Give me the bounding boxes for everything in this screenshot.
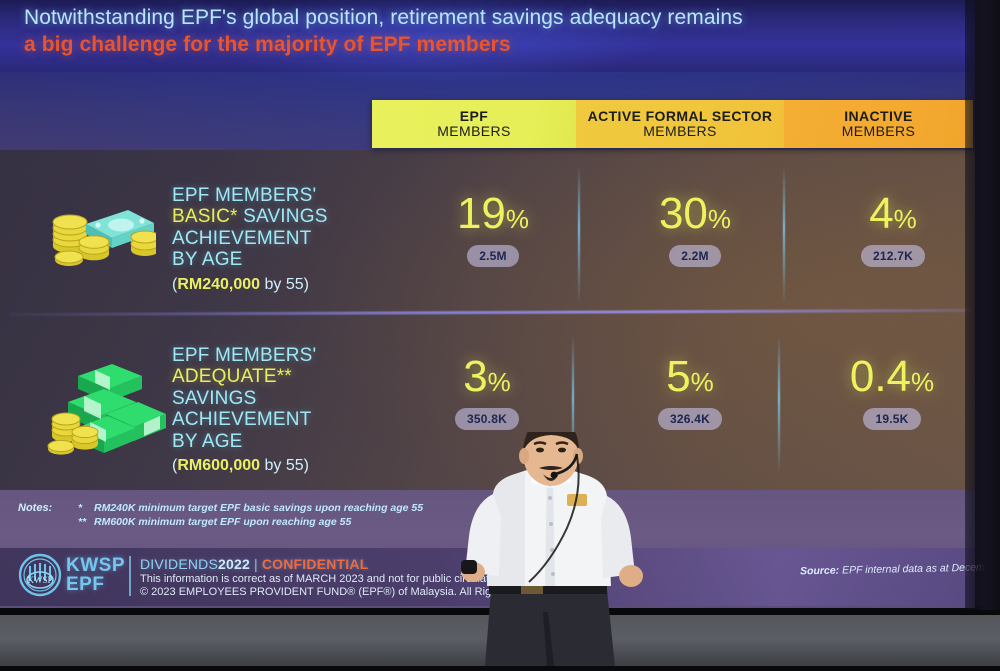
notes-text-2: RM600K minimum target EPF upon reaching …: [94, 516, 351, 528]
row-1-sub-rest: by 55): [260, 276, 309, 293]
row-1-label: EPF MEMBERS' BASIC* SAVINGS ACHIEVEMENT …: [172, 185, 328, 294]
row-2-label-line4: BY AGE: [172, 431, 316, 452]
notes-item-1: *RM240K minimum target EPF basic savings…: [78, 502, 423, 514]
slide-title-line1: Notwithstanding EPF's global position, r…: [24, 6, 904, 30]
kwsp-line2: EPF: [66, 575, 125, 594]
header-line1: ACTIVE FORMAL SECTOR: [588, 109, 773, 124]
percent-symbol: %: [894, 204, 917, 234]
column-divider-2: [783, 165, 785, 305]
metric-count-badge: 350.8K: [455, 408, 519, 430]
source-label: Source:: [800, 565, 839, 578]
row-2-label-line3: ACHIEVEMENT: [172, 409, 316, 430]
row-1-label-line4: BY AGE: [172, 249, 328, 270]
metric-value: 0.4%: [812, 355, 972, 399]
header-line2: MEMBERS: [643, 124, 717, 139]
metric-value: 30%: [620, 192, 770, 236]
table-header-epf-members: EPF MEMBERS: [372, 100, 576, 148]
header-line2: MEMBERS: [842, 124, 916, 139]
column-divider-4: [778, 335, 780, 475]
metric-count-badge: 2.5M: [467, 245, 518, 267]
stage-scene: Notwithstanding EPF's global position, r…: [0, 0, 1000, 666]
table-header-inactive-members: INACTIVE MEMBERS: [784, 100, 973, 148]
metric-row1-col3: 4% 212.7K: [818, 192, 968, 267]
metric-row2-col2: 5% 326.4K: [615, 355, 765, 430]
metric-number: 4: [869, 189, 893, 238]
metric-number: 30: [659, 189, 708, 238]
row-1-label-line3: ACHIEVEMENT: [172, 228, 328, 249]
header-line1: EPF: [460, 109, 488, 124]
row-1-label-line1: EPF MEMBERS': [172, 185, 328, 206]
metric-count-badge: 2.2M: [669, 245, 720, 267]
metric-row2-col1: 3% 350.8K: [412, 355, 562, 430]
dividends-year: 2022: [218, 556, 250, 572]
row-1-label-line2-rest: SAVINGS: [238, 206, 328, 227]
metric-number: 19: [457, 189, 506, 238]
metric-row1-col2: 30% 2.2M: [620, 192, 770, 267]
metric-number: 5: [666, 352, 690, 401]
footer-divider: [129, 556, 131, 596]
kwsp-line1: KWSP: [66, 556, 125, 575]
table-header-row: EPF MEMBERS ACTIVE FORMAL SECTOR MEMBERS…: [372, 100, 973, 148]
kwsp-wordmark: KWSP EPF: [66, 556, 125, 595]
notes-item-2: **RM600K minimum target EPF upon reachin…: [78, 516, 351, 528]
metric-count-badge: 326.4K: [658, 408, 722, 430]
metric-value: 5%: [615, 355, 765, 399]
metric-value: 3%: [412, 355, 562, 399]
banknote-coins-icon: [36, 190, 156, 275]
row-2-label: EPF MEMBERS' ADEQUATE** SAVINGS ACHIEVEM…: [172, 345, 316, 475]
percent-symbol: %: [708, 204, 731, 234]
header-line2: MEMBERS: [437, 124, 511, 139]
confidential-label: CONFIDENTIAL: [262, 556, 369, 572]
svg-text:KWSP: KWSP: [27, 575, 52, 585]
row-2-label-highlight: ADEQUATE**: [172, 366, 292, 387]
percent-symbol: %: [488, 367, 511, 397]
metric-number: 3: [463, 352, 487, 401]
row-1-sub-amount: RM240,000: [177, 276, 260, 293]
metric-number: 0.4: [850, 352, 911, 401]
row-1-sublabel: (RM240,000 by 55): [172, 276, 328, 294]
money-stacks-coins-icon: [38, 358, 168, 463]
notes-marker-1: *: [78, 502, 94, 514]
row-2-sub-amount: RM600,000: [177, 457, 260, 474]
percent-symbol: %: [911, 367, 934, 397]
notes-label: Notes:: [18, 502, 52, 514]
presenter-person: [455, 432, 645, 666]
dividends-word: DIVIDENDS: [140, 556, 218, 572]
row-2-label-line1: EPF MEMBERS': [172, 345, 316, 366]
notes-text-1: RM240K minimum target EPF basic savings …: [94, 502, 423, 514]
column-divider-1: [578, 165, 580, 305]
row-1-label-highlight: BASIC*: [172, 206, 238, 227]
metric-count-badge: 212.7K: [861, 245, 925, 267]
percent-symbol: %: [506, 204, 529, 234]
table-header-active-formal-sector-members: ACTIVE FORMAL SECTOR MEMBERS: [576, 100, 784, 148]
row-2-label-line3a: SAVINGS: [172, 388, 316, 409]
slide-title-line2: a big challenge for the majority of EPF …: [24, 33, 904, 57]
row-2-sub-rest: by 55): [260, 457, 309, 474]
kwsp-epf-logo-icon: KWSP: [18, 553, 62, 597]
metric-row1-col1: 19% 2.5M: [418, 192, 568, 267]
percent-symbol: %: [691, 367, 714, 397]
metric-value: 19%: [418, 192, 568, 236]
row-2-sublabel: (RM600,000 by 55): [172, 457, 316, 475]
footer-separator: |: [250, 556, 262, 572]
screen-right-edge: [965, 0, 1000, 610]
header-line1: INACTIVE: [844, 109, 913, 124]
metric-value: 4%: [818, 192, 968, 236]
metric-count-badge: 19.5K: [863, 408, 920, 430]
metric-row2-col3: 0.4% 19.5K: [812, 355, 972, 430]
notes-marker-2: **: [78, 516, 94, 528]
